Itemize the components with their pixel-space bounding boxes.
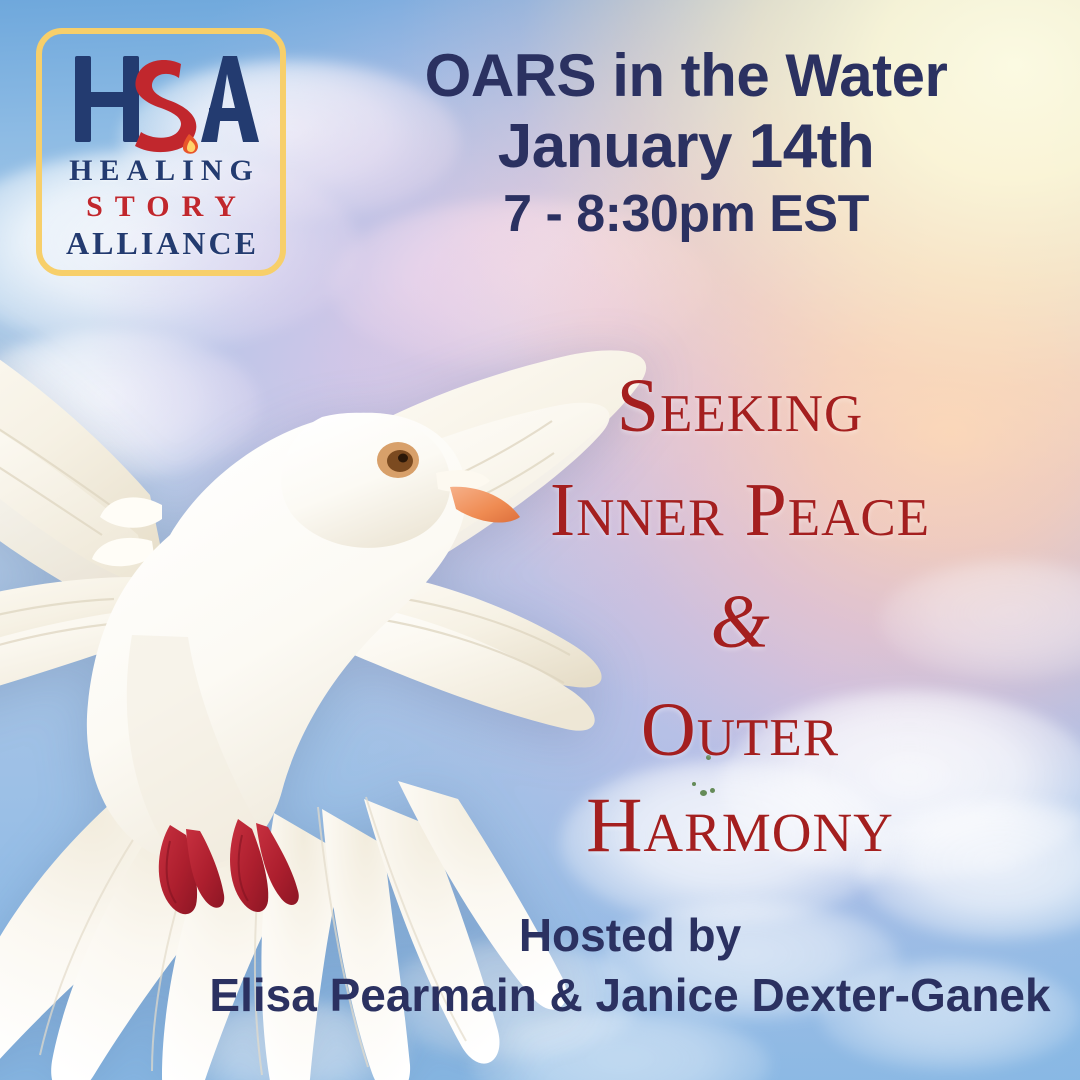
logo-line-story: STORY <box>62 192 260 222</box>
headline-line-outer: Outer <box>420 692 1060 768</box>
headline-line-harmony: Harmony <box>420 786 1060 864</box>
headline-line-inner-peace: Inner Peace <box>420 472 1060 548</box>
logo-line-alliance: ALLIANCE <box>62 227 260 259</box>
poster-canvas: HEALING STORY ALLIANCE OARS in the Water… <box>0 0 1080 1080</box>
logo-line-healing: HEALING <box>62 156 260 186</box>
headline-line-seeking: Seeking <box>420 368 1060 444</box>
event-time: 7 - 8:30pm EST <box>330 187 1042 242</box>
hsa-logo: HEALING STORY ALLIANCE <box>36 28 286 276</box>
hsa-logo-wordmark: HEALING STORY ALLIANCE <box>62 156 260 259</box>
host-names: Elisa Pearmain & Janice Dexter-Ganek <box>200 970 1060 1022</box>
event-date: January 14th <box>330 114 1042 180</box>
monogram-letter-a <box>201 56 259 142</box>
headline-ampersand: & <box>420 584 1060 660</box>
event-title: OARS in the Water <box>330 44 1042 108</box>
hosted-by-section: Hosted by Elisa Pearmain & Janice Dexter… <box>200 910 1060 1021</box>
program-headline: Seeking Inner Peace & Outer Harmony <box>420 368 1060 864</box>
event-header: OARS in the Water January 14th 7 - 8:30p… <box>330 44 1042 242</box>
monogram-letter-h <box>75 56 139 142</box>
hsa-monogram <box>61 50 261 154</box>
hosted-by-label: Hosted by <box>200 910 1060 962</box>
